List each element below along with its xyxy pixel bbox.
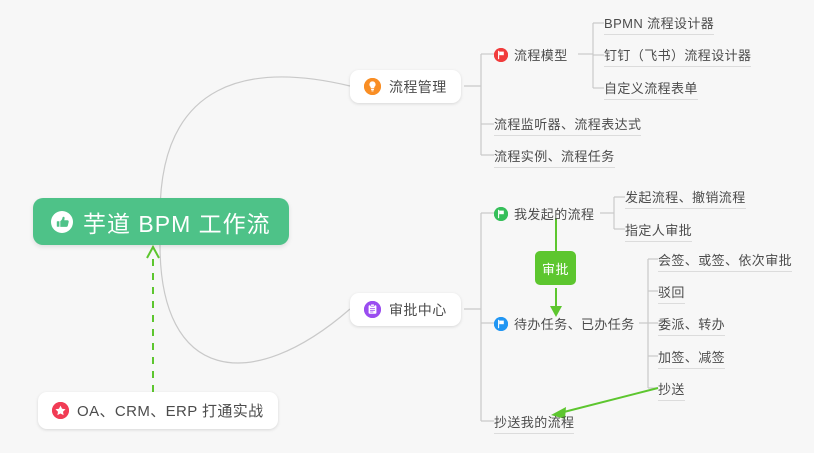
- lightbulb-icon: [364, 78, 381, 95]
- node-dingtalk-feishu-designer[interactable]: 钉钉（飞书）流程设计器: [604, 45, 751, 67]
- node-label-designated-approver: 指定人审批: [625, 220, 692, 239]
- branch-label-approval-center: 审批中心: [389, 300, 447, 320]
- node-label-process-instance-task: 流程实例、流程任务: [494, 146, 615, 165]
- node-carbon-copy[interactable]: 抄送: [658, 379, 685, 401]
- root-node[interactable]: 芋道 BPM 工作流: [33, 198, 289, 245]
- node-designated-approver[interactable]: 指定人审批: [625, 220, 692, 242]
- floating-node-label: OA、CRM、ERP 打通实战: [77, 400, 264, 421]
- edge-root-to-approval-center: [160, 245, 350, 363]
- branch-node-approval-center[interactable]: 审批中心: [350, 293, 461, 326]
- node-label-process-listener-expression: 流程监听器、流程表达式: [494, 114, 641, 133]
- node-label-carbon-copy: 抄送: [658, 379, 685, 398]
- annotation-chip-approval[interactable]: 审批: [535, 251, 576, 285]
- annotation-arrow-cc: [556, 388, 658, 414]
- node-countersign-types[interactable]: 会签、或签、依次审批: [658, 250, 792, 272]
- node-label-reject: 驳回: [658, 282, 685, 301]
- clipboard-icon: [364, 301, 381, 318]
- node-label-custom-process-form: 自定义流程表单: [604, 78, 698, 97]
- flag-icon: [494, 48, 508, 62]
- annotation-chip-label: 审批: [542, 259, 569, 278]
- root-node-label: 芋道 BPM 工作流: [83, 205, 271, 239]
- node-todo-done-tasks[interactable]: 待办任务、已办任务: [494, 314, 635, 335]
- node-label-start-cancel-process: 发起流程、撤销流程: [625, 187, 746, 206]
- node-reject[interactable]: 驳回: [658, 282, 685, 304]
- node-process-instance-task[interactable]: 流程实例、流程任务: [494, 146, 615, 168]
- node-label-add-remove-sign: 加签、减签: [658, 347, 725, 366]
- node-start-cancel-process[interactable]: 发起流程、撤销流程: [625, 187, 746, 209]
- node-label-dingtalk-feishu-designer: 钉钉（飞书）流程设计器: [604, 45, 751, 64]
- node-label-todo-done-tasks: 待办任务、已办任务: [514, 314, 635, 333]
- node-label-cc-to-me-process: 抄送我的流程: [494, 412, 574, 431]
- node-delegate-transfer[interactable]: 委派、转办: [658, 314, 725, 336]
- node-label-countersign-types: 会签、或签、依次审批: [658, 250, 792, 269]
- node-process-model[interactable]: 流程模型: [494, 45, 568, 66]
- annotation-dashed-arrowhead: [147, 247, 159, 258]
- mindmap-canvas: 芋道 BPM 工作流 流程管理 流程模型 BPMN 流程设计器 钉钉（飞书）流: [0, 0, 814, 453]
- node-my-initiated-process[interactable]: 我发起的流程: [494, 204, 594, 225]
- node-add-remove-sign[interactable]: 加签、减签: [658, 347, 725, 369]
- node-label-my-initiated-process: 我发起的流程: [514, 204, 594, 223]
- node-label-delegate-transfer: 委派、转办: [658, 314, 725, 333]
- node-bpmn-designer[interactable]: BPMN 流程设计器: [604, 13, 714, 35]
- thumbs-up-icon: [51, 211, 73, 233]
- node-label-process-model: 流程模型: [514, 45, 568, 64]
- edge-root-to-process-management: [160, 77, 350, 215]
- flag-icon: [494, 317, 508, 331]
- node-process-listener-expression[interactable]: 流程监听器、流程表达式: [494, 114, 641, 136]
- node-label-bpmn-designer: BPMN 流程设计器: [604, 13, 714, 32]
- branch-node-process-management[interactable]: 流程管理: [350, 70, 461, 103]
- node-cc-to-me-process[interactable]: 抄送我的流程: [494, 412, 574, 434]
- star-icon: [52, 402, 69, 419]
- floating-node-integration[interactable]: OA、CRM、ERP 打通实战: [38, 392, 278, 429]
- branch-label-process-management: 流程管理: [389, 77, 447, 97]
- flag-icon: [494, 207, 508, 221]
- node-custom-process-form[interactable]: 自定义流程表单: [604, 78, 698, 100]
